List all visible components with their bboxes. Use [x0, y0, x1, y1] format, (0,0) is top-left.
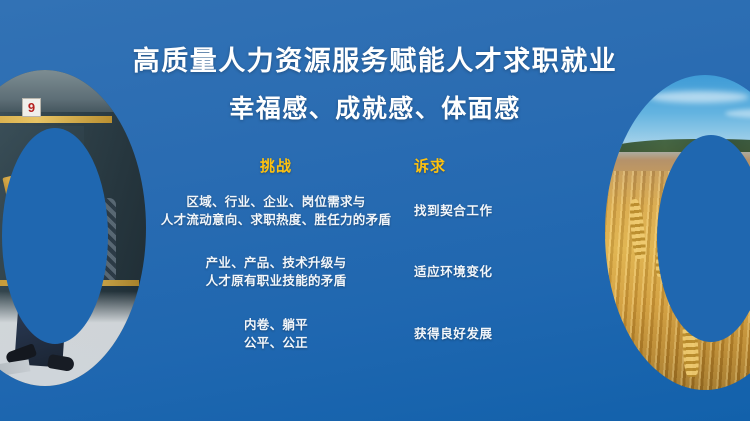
bus-side-text: 城际专线 — [56, 298, 86, 308]
challenge-line-1: 产业、产品、技术升级与 — [150, 254, 402, 272]
bus-stripe-lower — [0, 280, 139, 286]
challenge-cell: 内卷、躺平 公平、公正 — [150, 316, 402, 352]
demand-text: 适应环境变化 — [414, 263, 570, 281]
demand-text: 获得良好发展 — [414, 325, 570, 343]
headline-line-1: 高质量人力资源服务赋能人才求职就业 — [0, 48, 750, 75]
challenge-cell: 产业、产品、技术升级与 人才原有职业技能的矛盾 — [150, 254, 402, 290]
challenge-line-2: 公平、公正 — [150, 334, 402, 352]
challenge-cell: 区域、行业、企业、岗位需求与 人才流动意向、求职热度、胜任力的矛盾 — [150, 193, 402, 229]
headline-line-2: 幸福感、成就感、体面感 — [0, 97, 750, 122]
challenge-line-1: 区域、行业、企业、岗位需求与 — [150, 193, 402, 211]
wheat-ear — [681, 315, 699, 378]
demand-cell: 获得良好发展 — [402, 325, 570, 343]
wheat-texture — [605, 171, 750, 390]
column-header-challenge: 挑战 — [150, 155, 402, 176]
treeline-horizon — [605, 139, 750, 152]
column-header-demand: 诉求 — [402, 155, 570, 176]
wheat-ear — [655, 225, 671, 278]
demand-text: 找到契合工作 — [414, 202, 570, 220]
person-head — [42, 156, 66, 176]
wheat-field-photo — [605, 75, 750, 390]
slide-canvas: 9 城际专线 — [0, 0, 750, 421]
person-shoe-right — [47, 354, 75, 372]
content-table: 挑战 诉求 区域、行业、企业、岗位需求与 人才流动意向、求职热度、胜任力的矛盾 … — [150, 155, 570, 352]
column-headers-row: 挑战 诉求 — [150, 155, 570, 176]
box-stamp-mark — [45, 171, 64, 188]
challenge-line-1: 内卷、躺平 — [150, 316, 402, 334]
bus-window — [0, 126, 84, 184]
street-curb — [0, 359, 30, 384]
right-ring-photo — [605, 75, 750, 390]
demand-cell: 适应环境变化 — [402, 263, 570, 281]
table-row: 内卷、躺平 公平、公正 获得良好发展 — [150, 316, 570, 352]
box-label-mark — [11, 181, 35, 203]
headline-block: 高质量人力资源服务赋能人才求职就业 幸福感、成就感、体面感 — [0, 48, 750, 122]
demand-cell: 找到契合工作 — [402, 202, 570, 220]
hanging-jacket — [76, 198, 116, 286]
person-torso — [21, 186, 80, 270]
table-row: 产业、产品、技术升级与 人才原有职业技能的矛盾 适应环境变化 — [150, 254, 570, 290]
challenge-line-2: 人才流动意向、求职热度、胜任力的矛盾 — [150, 211, 402, 229]
table-row: 区域、行业、企业、岗位需求与 人才流动意向、求职热度、胜任力的矛盾 找到契合工作 — [150, 193, 570, 229]
cardboard-box — [2, 163, 75, 217]
challenge-line-2: 人才原有职业技能的矛盾 — [150, 272, 402, 290]
